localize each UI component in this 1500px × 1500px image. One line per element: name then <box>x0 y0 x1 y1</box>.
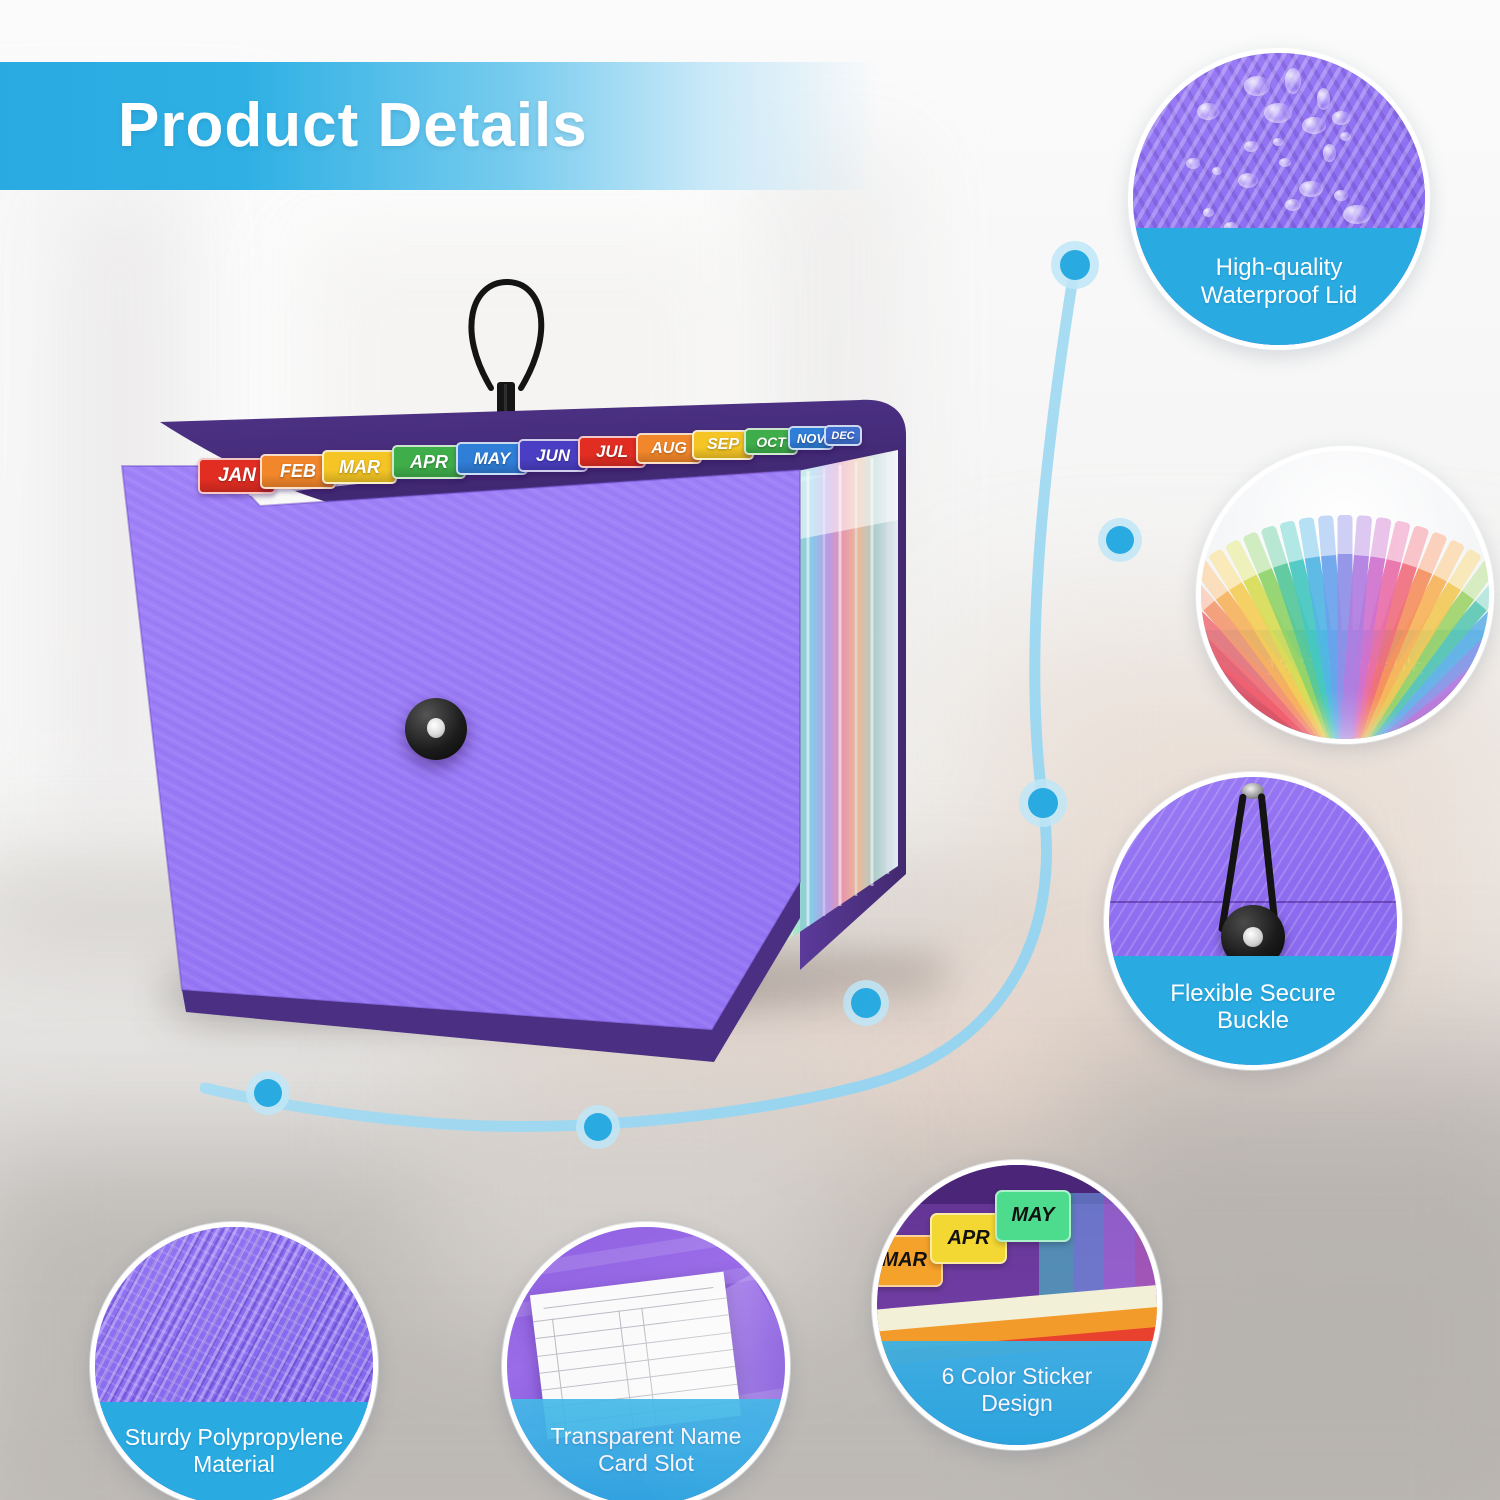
callout-polypropylene-material[interactable]: Sturdy Polypropylene Material <box>90 1222 378 1500</box>
elastic-loop-cord <box>471 282 541 388</box>
month-tab-apr[interactable]: APR <box>392 445 466 479</box>
sticker-tab-label: MAY <box>1012 1204 1055 1227</box>
product-image-expanding-file-folder: JANFEBMARAPRMAYJUNJULAUGSEPOCTNOVDEC <box>100 270 920 1030</box>
sticker-tab-label: APR <box>947 1227 989 1250</box>
water-droplet-icon <box>1273 138 1283 146</box>
callout-caption-band: Sturdy Polypropylene Material <box>95 1402 373 1500</box>
month-tab-label: JUN <box>536 446 570 466</box>
month-tab-label: AUG <box>651 440 687 458</box>
water-droplet-icon <box>1186 158 1200 169</box>
month-tab-label: MAR <box>339 457 380 478</box>
month-tab-label: APR <box>410 452 448 473</box>
callout-caption: Transparent Name Card Slot <box>543 1423 750 1476</box>
month-tab-label: JAN <box>218 465 256 487</box>
water-droplet-icon <box>1212 167 1222 175</box>
buckle-button[interactable] <box>405 698 467 760</box>
callout-expandable-pocket[interactable]: 13 Expandable Pocket <box>1196 446 1494 744</box>
water-droplet-icon <box>1197 103 1219 120</box>
month-tab-label: FEB <box>280 461 316 482</box>
callout-caption: Sturdy Polypropylene Material <box>117 1424 352 1477</box>
month-tab-label: NOV <box>797 431 825 446</box>
water-droplet-icon <box>1264 103 1292 123</box>
month-tab-label: MAY <box>474 449 511 469</box>
page-title: Product Details <box>118 78 588 174</box>
month-tab-label: JUL <box>596 442 628 462</box>
water-droplet-icon <box>1343 205 1371 224</box>
callout-waterproof-lid[interactable]: High-quality Waterproof Lid <box>1128 48 1430 350</box>
water-droplet-icon <box>1238 173 1258 188</box>
callout-photo <box>1201 451 1489 739</box>
sticker-tab: MAY <box>995 1190 1072 1242</box>
month-tab-label: OCT <box>756 434 786 450</box>
water-droplet-icon <box>1285 199 1301 211</box>
month-tab-mar[interactable]: MAR <box>322 450 397 484</box>
callout-name-card-slot[interactable]: Transparent Name Card Slot <box>502 1222 790 1500</box>
callout-caption-band: Flexible Secure Buckle <box>1109 956 1397 1065</box>
infographic-stage: JANFEBMARAPRMAYJUNJULAUGSEPOCTNOVDEC Pro… <box>0 0 1500 1500</box>
callout-caption-band: 6 Color Sticker Design <box>877 1341 1157 1445</box>
panel-seam-line <box>1109 901 1397 903</box>
water-droplet-icon <box>1203 208 1214 217</box>
water-droplet-icon <box>1332 111 1350 125</box>
month-tab-label: DEC <box>831 430 854 442</box>
callout-color-sticker[interactable]: MAR APR MAY 6 Color Sticker Design <box>872 1160 1162 1450</box>
callout-caption-band: Transparent Name Card Slot <box>507 1399 785 1500</box>
buckle-button-hole <box>427 718 445 738</box>
water-droplet-icon <box>1244 141 1258 152</box>
callout-caption-band: High-quality Waterproof Lid <box>1133 228 1425 345</box>
water-droplet-icon <box>1323 144 1336 162</box>
callout-secure-buckle[interactable]: Flexible Secure Buckle <box>1104 772 1402 1070</box>
month-tab-dec[interactable]: DEC <box>824 425 862 446</box>
water-droplet-icon <box>1317 88 1330 110</box>
water-droplet-icon <box>1285 68 1301 94</box>
month-tab-label: SEP <box>707 436 739 454</box>
buckle-button-hole <box>1243 927 1263 947</box>
sticker-tab-label: MAR <box>881 1249 927 1272</box>
callout-caption: Flexible Secure Buckle <box>1162 980 1343 1036</box>
callout-caption: High-quality Waterproof Lid <box>1193 254 1366 310</box>
callout-caption: 6 Color Sticker Design <box>934 1363 1101 1416</box>
rainbow-pocket-fan <box>1201 503 1489 739</box>
